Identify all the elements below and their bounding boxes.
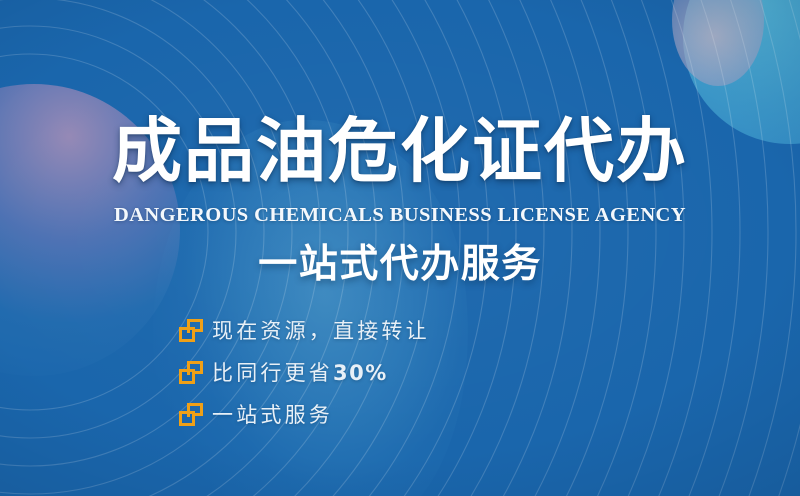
feature-label: 现在资源，直接转让: [212, 318, 430, 344]
feature-item: 比同行更省30%: [178, 358, 430, 388]
feature-label: 比同行更省30%: [212, 360, 388, 386]
feature-list: 现在资源，直接转让 比同行更省30% 一站式服务: [178, 316, 430, 430]
feature-item: 一站式服务: [178, 400, 430, 430]
feature-item: 现在资源，直接转让: [178, 316, 430, 346]
feature-label: 一站式服务: [212, 402, 333, 428]
feature-label-text: 比同行更省: [212, 361, 333, 385]
banner-title: 成品油危化证代办: [0, 116, 800, 186]
promo-banner: 成品油危化证代办 DANGEROUS CHEMICALS BUSINESS LI…: [0, 0, 800, 496]
banner-subtitle-english: DANGEROUS CHEMICALS BUSINESS LICENSE AGE…: [0, 204, 800, 227]
feature-label-number: 30%: [333, 361, 388, 385]
overlapping-squares-icon: [178, 318, 204, 344]
overlapping-squares-icon: [178, 360, 204, 386]
banner-subtitle-chinese: 一站式代办服务: [0, 244, 800, 286]
overlapping-squares-icon: [178, 402, 204, 428]
banner-content: 成品油危化证代办 DANGEROUS CHEMICALS BUSINESS LI…: [0, 0, 800, 496]
